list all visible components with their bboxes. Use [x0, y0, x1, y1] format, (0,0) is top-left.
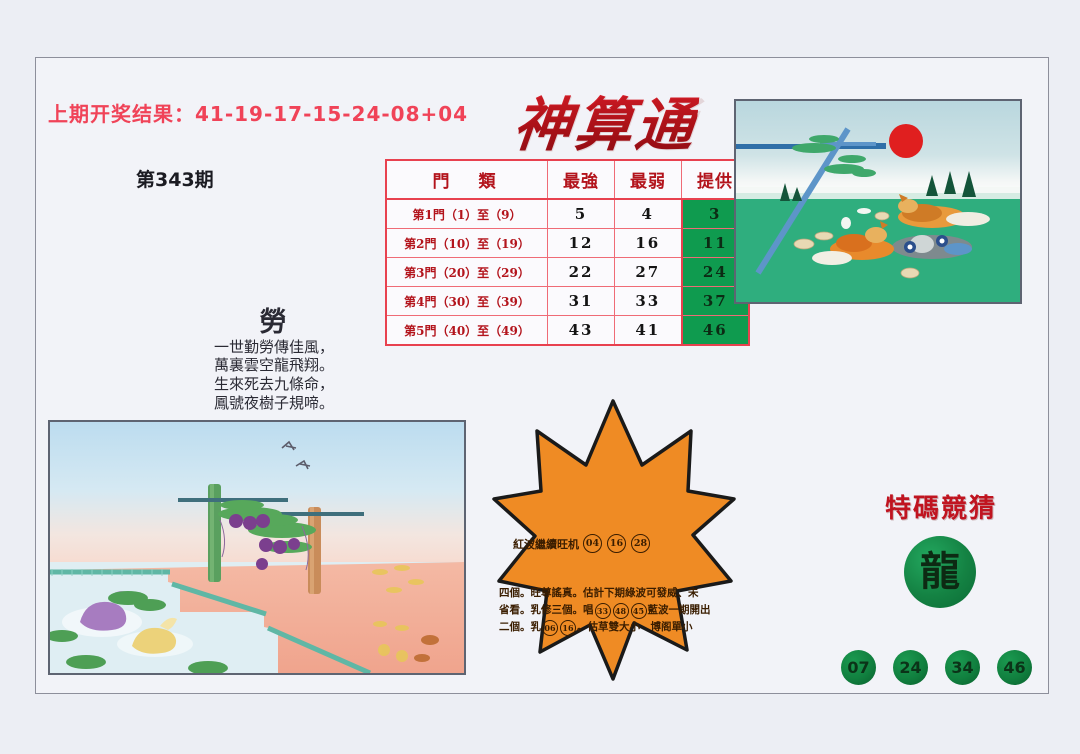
num-ball: 34: [945, 650, 980, 685]
starburst-body-text-1: 四個。旺尊謠真。估計下期綠波可發威、未: [499, 585, 699, 602]
poem-line-1: 一世勤勞傳佳風，: [174, 338, 374, 357]
cell-weak: 4: [615, 199, 682, 229]
table-row: 第4門（30）至（39） 31 33 37: [386, 287, 749, 316]
cell-strong: 12: [548, 229, 615, 258]
num-ball: 46: [997, 650, 1032, 685]
poem-line-2: 萬裏雲空龍飛翔。: [174, 356, 374, 375]
starburst-text: 紅波繼續旺机 04 16 28 四個。旺尊謠真。估計下期綠波可發威、未 省看。乳…: [491, 395, 736, 685]
headline-number-2: 16: [607, 534, 626, 553]
body-number-33: 33: [595, 603, 611, 619]
stat-table: 門 類 最強 最弱 提供 第1門（1）至（9） 5 4 3 第2門（10）至（1…: [385, 159, 750, 346]
body-number-48: 48: [613, 603, 629, 619]
starburst-body-text-3a: 二個。乳: [499, 619, 541, 636]
cell-weak: 41: [615, 316, 682, 346]
cell-group: 第2門（10）至（19）: [386, 229, 548, 258]
headline-number-3: 28: [631, 534, 650, 553]
cell-strong: 5: [548, 199, 615, 229]
num-ball: 07: [841, 650, 876, 685]
brand-title-text: 神算通: [510, 78, 702, 162]
cell-group: 第4門（30）至（39）: [386, 287, 548, 316]
zodiac-ball: 龍: [904, 536, 976, 608]
special-number-balls: 07 24 34 46: [841, 650, 1041, 685]
cell-weak: 33: [615, 287, 682, 316]
cell-group: 第3門（20）至（29）: [386, 258, 548, 287]
table-row: 第1門（1）至（9） 5 4 3: [386, 199, 749, 229]
table-row: 第3門（20）至（29） 22 27 24: [386, 258, 749, 287]
cell-group: 第5門（40）至（49）: [386, 316, 548, 346]
num-ball: 24: [893, 650, 928, 685]
starburst-body-text-2b: 藍波一期開出: [648, 602, 711, 619]
starburst-body-text-3b: 。估草雙大小 博阁單小: [577, 619, 693, 636]
zodiac-character: 龍: [920, 552, 960, 592]
table-row: 第5門（40）至（49） 43 41 46: [386, 316, 749, 346]
col-header-group: 門 類: [386, 160, 548, 199]
illustration-pond-svg: [50, 422, 464, 673]
issue-number: 第343期: [136, 165, 214, 192]
cell-give: 46: [682, 316, 750, 346]
starburst-callout: 紅波繼續旺机 04 16 28 四個。旺尊謠真。估計下期綠波可發威、未 省看。乳…: [491, 395, 736, 685]
cell-strong: 22: [548, 258, 615, 287]
body-number-16: 16: [560, 620, 576, 636]
cell-strong: 31: [548, 287, 615, 316]
starburst-headline: 紅波繼續旺机: [513, 536, 579, 552]
brand-title: 神算通: [491, 78, 721, 156]
poem-line-4: 鳳號夜樹子規啼。: [174, 394, 374, 413]
poem-block: 勞 一世勤勞傳佳風， 萬裏雲空龍飛翔。 生來死去九條命， 鳳號夜樹子規啼。: [174, 308, 374, 413]
page-frame: 上期开奖结果：41-19-17-15-24-08+04 第343期 神算通 門 …: [35, 57, 1049, 694]
col-header-strong: 最強: [548, 160, 615, 199]
cell-group: 第1門（1）至（9）: [386, 199, 548, 229]
cell-weak: 16: [615, 229, 682, 258]
headline-number-1: 04: [583, 534, 602, 553]
special-code-title: 特碼競猜: [846, 488, 1036, 525]
illustration-foxes: [734, 99, 1022, 304]
starburst-body-line-2: 省看。乳修三個。唱 33 48 45 藍波一期開出: [499, 602, 739, 619]
starburst-body-line-3: 二個。乳 06 16 。估草雙大小 博阁單小: [499, 619, 739, 636]
cell-strong: 43: [548, 316, 615, 346]
table-header-row: 門 類 最強 最弱 提供: [386, 160, 749, 199]
body-number-06: 06: [542, 620, 558, 636]
starburst-body-text-2a: 省看。乳修三個。唱: [499, 602, 594, 619]
last-draw-result: 上期开奖结果：41-19-17-15-24-08+04: [48, 98, 468, 127]
poem-line-3: 生來死去九條命，: [174, 375, 374, 394]
poem-headword: 勞: [174, 308, 374, 338]
illustration-foxes-svg: [736, 101, 1020, 302]
starburst-body: 四個。旺尊謠真。估計下期綠波可發威、未 省看。乳修三個。唱 33 48 45 藍…: [499, 585, 739, 636]
table-row: 第2門（10）至（19） 12 16 11: [386, 229, 749, 258]
illustration-pond: [48, 420, 466, 675]
starburst-body-line-1: 四個。旺尊謠真。估計下期綠波可發威、未: [499, 585, 739, 602]
table-body: 第1門（1）至（9） 5 4 3 第2門（10）至（19） 12 16 11 第…: [386, 199, 749, 345]
col-header-weak: 最弱: [615, 160, 682, 199]
cell-weak: 27: [615, 258, 682, 287]
body-number-45: 45: [631, 603, 647, 619]
starburst-headline-row: 紅波繼續旺机 04 16 28: [513, 534, 728, 553]
